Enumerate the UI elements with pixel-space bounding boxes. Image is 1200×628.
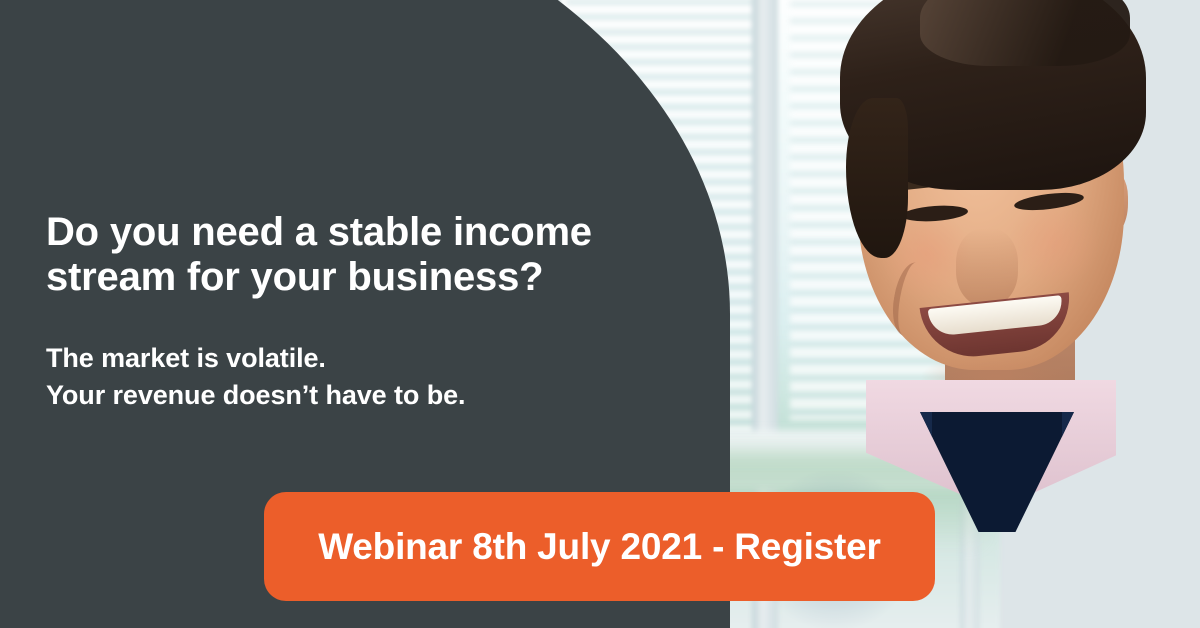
subheading: The market is volatile. Your revenue doe… [46, 340, 646, 414]
subheading-line-1: The market is volatile. [46, 340, 646, 377]
webinar-promo-banner: Do you need a stable income stream for y… [0, 0, 1200, 628]
headline: Do you need a stable income stream for y… [46, 210, 646, 300]
banner-content: Do you need a stable income stream for y… [0, 0, 1200, 628]
subheading-line-2: Your revenue doesn’t have to be. [46, 377, 646, 414]
register-cta-button[interactable]: Webinar 8th July 2021 - Register [264, 492, 935, 601]
